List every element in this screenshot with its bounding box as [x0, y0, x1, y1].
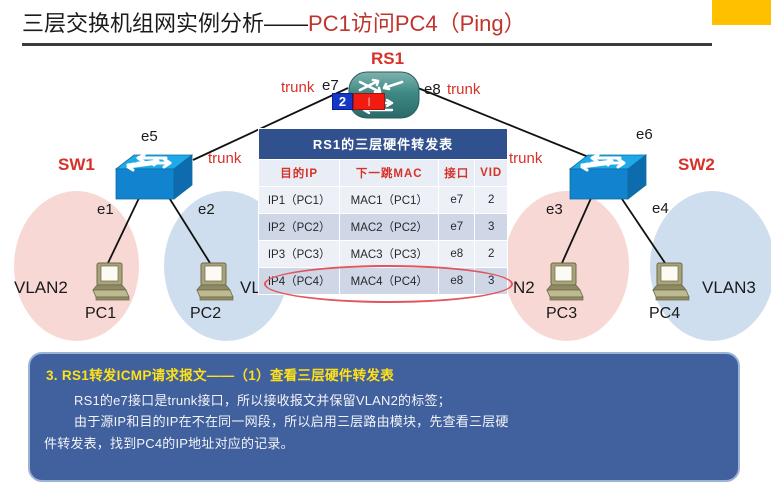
cell-vid: 2: [475, 241, 508, 268]
page-title: 三层交换机组网实例分析——PC1访问PC4（Ping）: [22, 6, 742, 42]
router-port-e7-label: e7: [322, 78, 339, 93]
column-header-next-mac: 下一跳MAC: [340, 160, 439, 187]
switch-sw2-port-e6-label: e6: [636, 127, 653, 142]
switch-sw1-port-e1-label: e1: [97, 202, 114, 217]
table-row: IP1（PC1） MAC1（PC1） e7 2: [259, 187, 508, 214]
cell-dest-ip: IP3（PC3）: [259, 241, 340, 268]
packet-tag-indicator: 2 I: [332, 93, 385, 110]
forwarding-table-title: RS1的三层硬件转发表: [259, 129, 508, 160]
cell-next-mac: MAC2（PC2）: [340, 214, 439, 241]
host-pc4-label: PC4: [649, 306, 680, 322]
switch-sw2-port-e4-label: e4: [652, 201, 669, 216]
cell-dest-ip: IP2（PC2）: [259, 214, 340, 241]
host-pc1-icon[interactable]: [88, 260, 134, 304]
router-right-trunk-label: trunk: [447, 82, 480, 97]
note-body: RS1的e7接口是trunk接口，所以接收报文并保留VLAN2的标签； 由于源I…: [44, 390, 724, 454]
host-pc2-label: PC2: [190, 306, 221, 322]
packet-vlan-tag: 2: [332, 93, 353, 110]
switch-sw1-port-e5-label: e5: [141, 129, 158, 144]
cell-next-mac: MAC4（PC4）: [340, 268, 439, 295]
switch-sw1-icon[interactable]: [112, 151, 196, 205]
cell-port: e8: [439, 268, 475, 295]
cell-dest-ip: IP4（PC4）: [259, 268, 340, 295]
host-pc3-icon[interactable]: [542, 260, 588, 304]
host-pc3-vlan-label: N2: [513, 279, 535, 296]
cell-next-mac: MAC3（PC3）: [340, 241, 439, 268]
switch-sw2-trunk-label: trunk: [509, 151, 542, 166]
note-line-2: 由于源IP和目的IP在不在同一网段，所以启用三层路由模块，先查看三层硬: [44, 411, 724, 432]
host-pc1-label: PC1: [85, 306, 116, 322]
table-header-row: 目的IP 下一跳MAC 接口 VID: [259, 160, 508, 187]
host-pc3-label: PC3: [546, 306, 577, 322]
host-pc1-vlan-label: VLAN2: [14, 279, 68, 296]
cell-vid: 3: [475, 268, 508, 295]
column-header-vid: VID: [475, 160, 508, 187]
router-left-trunk-label: trunk: [281, 80, 314, 95]
note-line-1: RS1的e7接口是trunk接口，所以接收报文并保留VLAN2的标签；: [44, 390, 724, 411]
cell-dest-ip: IP1（PC1）: [259, 187, 340, 214]
cell-vid: 3: [475, 214, 508, 241]
note-line-3: 件转发表，找到PC4的IP地址对应的记录。: [44, 436, 294, 451]
note-heading: 3. RS1转发ICMP请求报文——（1）查看三层硬件转发表: [46, 364, 724, 384]
router-rs1-label: RS1: [371, 50, 404, 67]
column-header-dest-ip: 目的IP: [259, 160, 340, 187]
switch-sw2-label: SW2: [678, 156, 715, 173]
host-pc2-icon[interactable]: [192, 260, 238, 304]
column-header-port: 接口: [439, 160, 475, 187]
packet-payload: I: [353, 93, 385, 110]
host-pc4-vlan-label: VLAN3: [702, 279, 756, 296]
switch-sw1-trunk-label: trunk: [208, 151, 241, 166]
switch-sw1-label: SW1: [58, 156, 95, 173]
cell-port: e7: [439, 214, 475, 241]
cell-next-mac: MAC1（PC1）: [340, 187, 439, 214]
switch-sw2-icon[interactable]: [566, 151, 650, 205]
cell-vid: 2: [475, 187, 508, 214]
table-row-highlighted: IP4（PC4） MAC4（PC4） e8 3: [259, 268, 508, 295]
cell-port: e8: [439, 241, 475, 268]
switch-sw2-port-e3-label: e3: [546, 202, 563, 217]
title-divider: [22, 43, 712, 46]
table-row: IP3（PC3） MAC3（PC3） e8 2: [259, 241, 508, 268]
switch-sw1-port-e2-label: e2: [198, 202, 215, 217]
page-title-en: PC1访问PC4（Ping）: [308, 11, 526, 36]
cell-port: e7: [439, 187, 475, 214]
router-port-e8-label: e8: [424, 82, 441, 97]
explanation-note-box: 3. RS1转发ICMP请求报文——（1）查看三层硬件转发表 RS1的e7接口是…: [28, 352, 740, 482]
forwarding-table: RS1的三层硬件转发表 目的IP 下一跳MAC 接口 VID IP1（PC1） …: [258, 128, 508, 295]
table-row: IP2（PC2） MAC2（PC2） e7 3: [259, 214, 508, 241]
host-pc4-icon[interactable]: [648, 260, 694, 304]
page-title-cn: 三层交换机组网实例分析——: [22, 11, 308, 36]
